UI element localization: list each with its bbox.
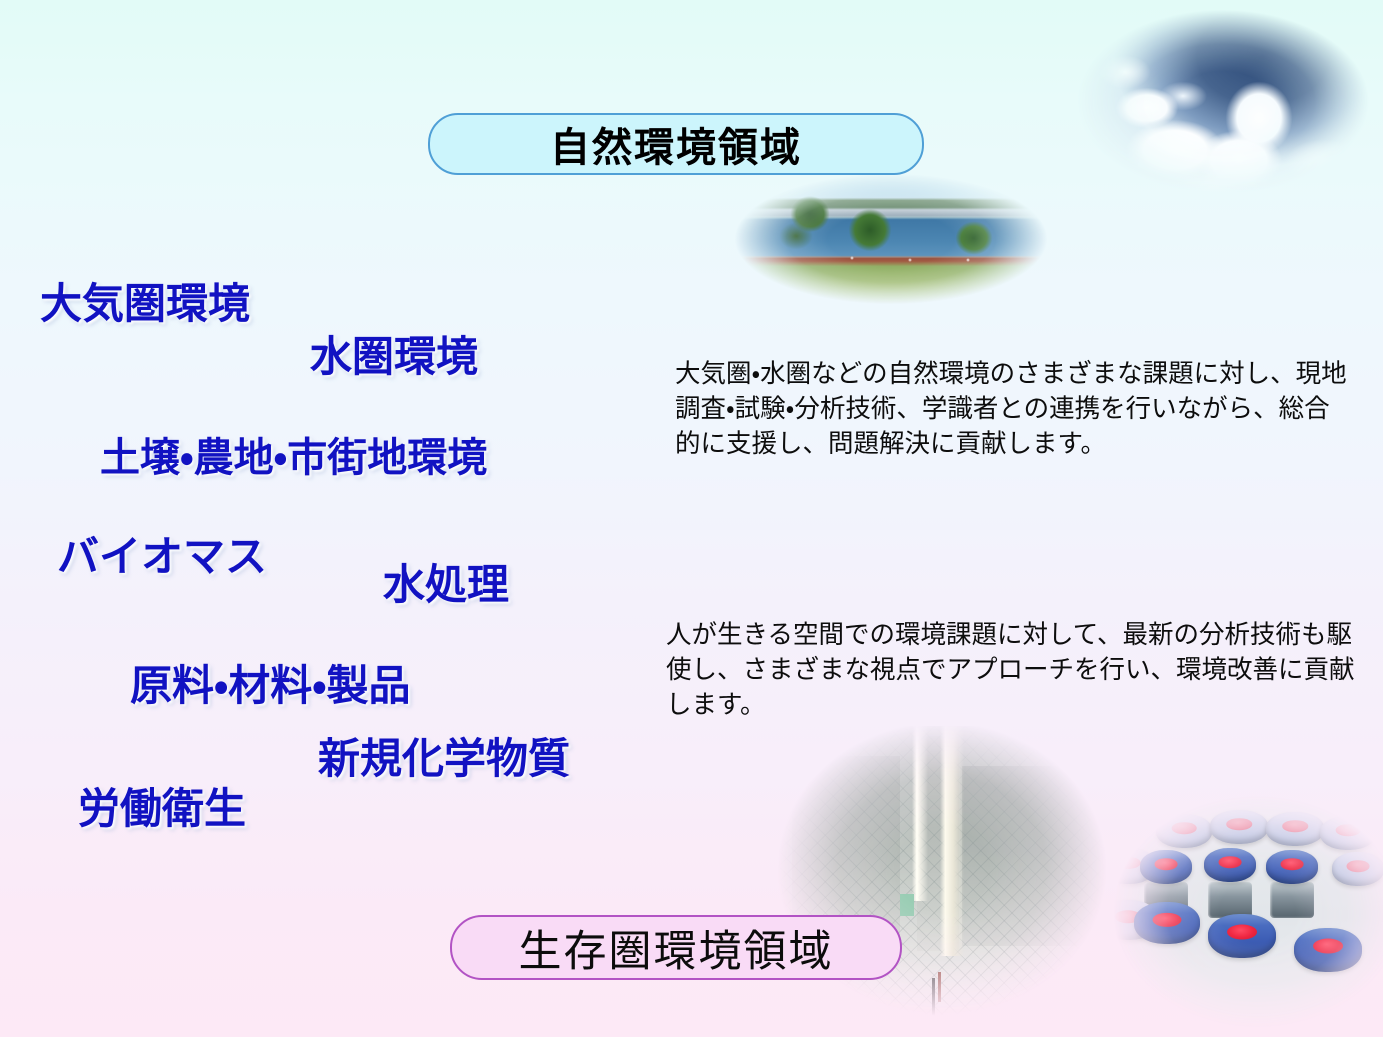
vial-glass: [1270, 882, 1314, 918]
vial: [1320, 816, 1376, 850]
vial: [1134, 902, 1200, 944]
vial: [1332, 852, 1383, 886]
vial: [1266, 850, 1318, 884]
vial: [1156, 814, 1212, 848]
keyword-label: 土壌・農地・市街地環境: [100, 425, 487, 483]
living-sphere-environment-description: 人が生きる空間での環境課題に対して、最新の分析技術も駆使し、さまざまな視点でアプ…: [666, 618, 1356, 724]
keyword-label: 労働衛生: [78, 775, 246, 836]
natural-environment-domain-banner: 自然環境領域: [428, 113, 924, 175]
vial: [1294, 928, 1362, 972]
vial: [1210, 810, 1268, 844]
vial: [1266, 812, 1324, 846]
slide-canvas: 自然環境領域 生存圏環境領域 大気圏環境水圏環境土壌・農地・市街地環境バイオマス…: [0, 0, 1383, 1037]
keyword-label: 水圏環境: [310, 323, 478, 384]
natural-environment-description: 大気圏・水圏などの自然環境のさまざまな課題に対し、現地調査・試験・分析技術、学識…: [675, 357, 1347, 463]
keyword-label: 大気圏環境: [40, 270, 250, 331]
keyword-label: 水処理: [383, 551, 509, 612]
laboratory-sample-vials-photo: [1098, 796, 1383, 1037]
vial: [1204, 848, 1256, 882]
vial-glass: [1208, 882, 1252, 918]
keyword-label: バイオマス: [57, 523, 267, 584]
living-sphere-environment-domain-banner: 生存圏環境領域: [450, 915, 902, 980]
industrial-mesh-fence-facility-photo: [762, 726, 1122, 1037]
vial: [1140, 850, 1192, 884]
keyword-label: 新規化学物質: [318, 725, 570, 786]
vial: [1208, 914, 1276, 958]
keyword-label: 原料・材料・製品: [130, 652, 411, 713]
sky-clouds-photo: [1063, 0, 1383, 196]
bridge-waterfront-landscape-photo: [724, 170, 1058, 308]
